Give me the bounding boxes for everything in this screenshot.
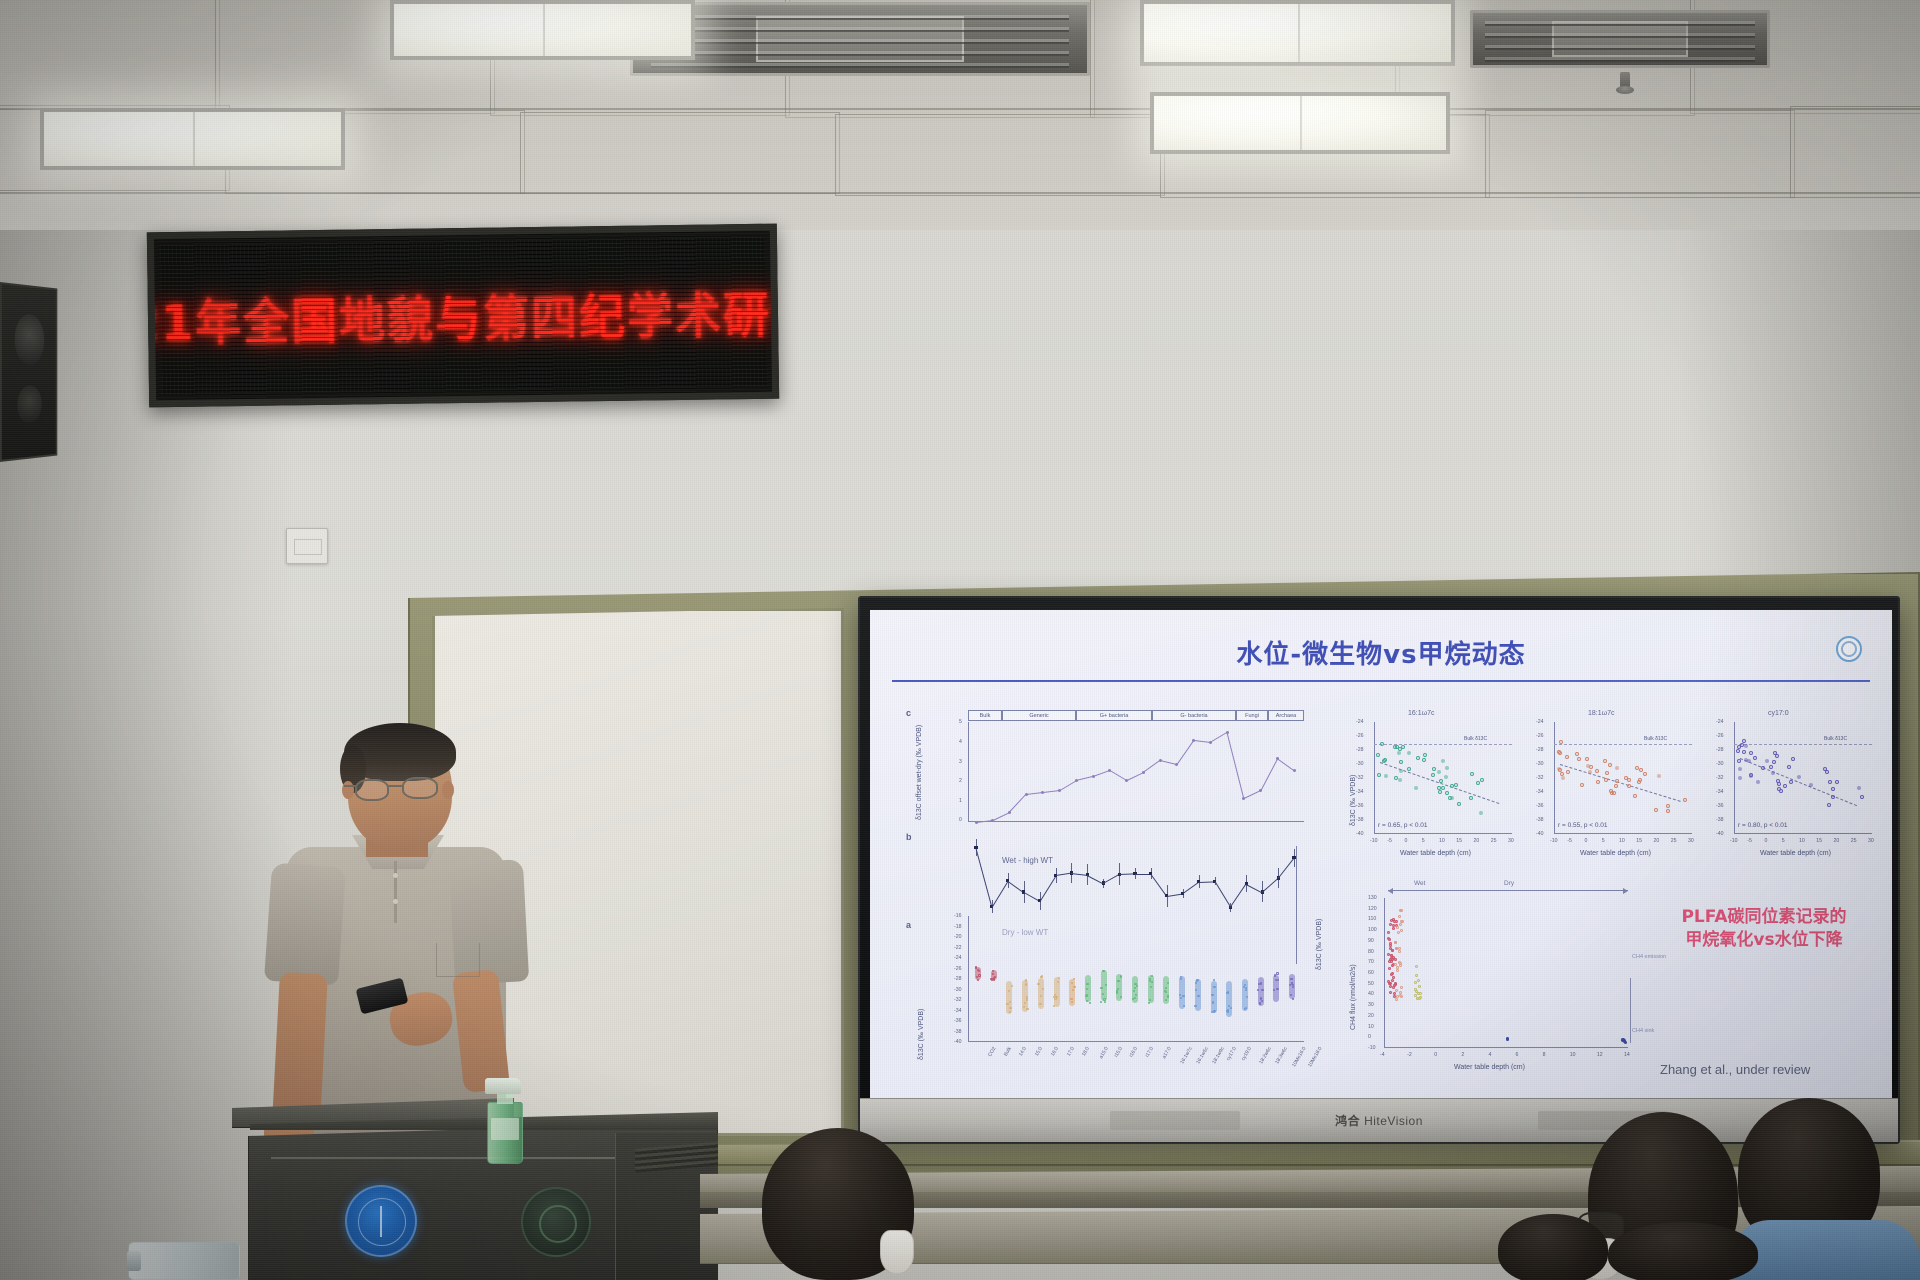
panel-a-ytick: -22: [954, 945, 962, 951]
scatter-ytick: -24: [1536, 719, 1544, 725]
scatter-xtick: 20: [1654, 838, 1660, 844]
scatter-xtick: 10: [1619, 838, 1625, 844]
wall-outlet-plate: [286, 528, 328, 564]
presenter-shirt-button: [393, 899, 398, 904]
panel-a-data-point: [1037, 983, 1039, 985]
panel-a-data-point: [1071, 982, 1073, 984]
panel-a-xtick: 18:0: [1081, 1046, 1091, 1057]
panel-a-data-point: [1261, 1000, 1263, 1002]
scatter-data-point: [1558, 751, 1562, 755]
flux-regime-label-dry: Dry: [1504, 880, 1514, 887]
panel-a-xtick: a15:0: [1098, 1046, 1109, 1060]
flux-ytick: 10: [1368, 1024, 1374, 1030]
scatter-data-point: [1454, 783, 1458, 787]
scatter-data-point: [1657, 774, 1661, 778]
scatter-xtick: -10: [1550, 838, 1558, 844]
panel-letter-a: a: [906, 920, 911, 930]
panel-a-xtick: 10Me18:0: [1307, 1046, 1323, 1068]
scatter-ytick: -30: [1536, 761, 1544, 767]
scatter-data-point: [1450, 784, 1454, 788]
scatter-xtick: 15: [1456, 838, 1462, 844]
panel-b-line-segment: [1039, 876, 1056, 902]
audience-member-head: [1498, 1214, 1608, 1280]
panel-a-data-point: [1026, 1008, 1028, 1010]
scatter-data-point: [1744, 744, 1748, 748]
scatter-data-point: [1595, 769, 1599, 773]
scatter-data-point: [1615, 779, 1619, 783]
scatter-data-point: [1441, 759, 1445, 763]
chart-scatter-1: 16:1ω7c δ13C (‰ VPDB) Bulk δ13C r = 0.65…: [1344, 710, 1520, 866]
panel-a-ytick: -36: [954, 1018, 962, 1024]
flux-series-label-sink: CH4 sink: [1632, 1028, 1654, 1034]
scatter-ytick: -36: [1356, 803, 1364, 809]
panel-b-line-segment: [1230, 884, 1247, 908]
scatter-data-point: [1635, 766, 1639, 770]
chart-panel-c: c δ13C offset wet-dry (‰ VPDB) Bulk Gene…: [906, 708, 1316, 830]
scatter-data-point: [1772, 760, 1776, 764]
flux-ytick: 50: [1368, 981, 1374, 987]
flux-xtick: 10: [1570, 1052, 1576, 1058]
panel-a-xtick: i17:0: [1144, 1046, 1155, 1058]
panel-a-data-point: [977, 979, 979, 981]
panel-a-data-point: [1025, 983, 1027, 985]
scatter-data-point: [1448, 796, 1452, 800]
scatter-data-point: [1441, 786, 1445, 790]
panel-c-axes: [968, 722, 1304, 822]
flux-ytick: 90: [1368, 938, 1374, 944]
spray-bottle-label: [491, 1118, 519, 1140]
panel-a-data-point: [993, 978, 995, 980]
scatter-xtick: 0: [1585, 838, 1588, 844]
chart-flux-plot: Wet Dry CH4 flux (nmol/m2/s) 13012011010…: [1344, 882, 1644, 1082]
panel-a-xtick: a17:0: [1161, 1046, 1172, 1060]
presenter-glasses-bridge: [388, 785, 404, 787]
scatter-ytick: -34: [1356, 789, 1364, 795]
panel-a-xtick: i16:0: [1129, 1046, 1140, 1058]
panel-a-data-point: [1292, 986, 1294, 988]
scatter-data-point: [1577, 757, 1581, 761]
water-bottle[interactable]: [128, 1242, 240, 1280]
panel-c-ytick: 2: [959, 778, 962, 784]
scatter-data-point: [1639, 768, 1643, 772]
panel-a-xtick: 15:0: [1034, 1046, 1044, 1057]
panel-a-data-point: [1165, 987, 1167, 989]
flux-xtick: 2: [1461, 1052, 1464, 1058]
panel-a-data-point: [1276, 972, 1278, 974]
flux-data-point: [1400, 929, 1403, 932]
scatter-ytick: -24: [1716, 719, 1724, 725]
scatter-data-point: [1445, 766, 1449, 770]
scatter-xtick: 20: [1474, 838, 1480, 844]
panel-a-data-point: [1182, 995, 1184, 997]
presenter-shirt-pocket: [436, 943, 480, 977]
scatter-data-point: [1401, 745, 1405, 749]
panel-a-data-point: [1261, 989, 1263, 991]
flux-ytick: -10: [1368, 1045, 1376, 1051]
scatter-data-point: [1740, 743, 1744, 747]
scatter-data-point: [1747, 759, 1751, 763]
panel-a-ytick: -28: [954, 976, 962, 982]
ceiling-ac-vent-right: [1470, 10, 1770, 68]
panel-a-data-point: [1009, 1007, 1011, 1009]
scatter-xtick: -5: [1747, 838, 1752, 844]
scatter-data-point: [1407, 767, 1411, 771]
panel-a-xtick: 14:0: [1018, 1046, 1028, 1057]
panel-a-data-point: [1134, 997, 1136, 999]
panel-b-right-ylabel: δ13C (‰ VPDB): [1316, 860, 1323, 970]
scatter-ytick: -32: [1356, 775, 1364, 781]
scatter-xtick: 25: [1851, 838, 1857, 844]
scatter-ytick: -40: [1356, 831, 1364, 837]
scatter-ytick: -30: [1356, 761, 1364, 767]
panel-a-xtick: 16:1w5c: [1195, 1046, 1210, 1065]
fire-sprinkler: [1620, 72, 1630, 88]
panel-a-data-point: [1196, 980, 1198, 982]
flux-data-point: [1399, 909, 1402, 912]
panel-letter-b: b: [906, 832, 912, 842]
scatter-data-point: [1586, 764, 1590, 768]
presentation-slide: 水位-微生物vs甲烷动态 c δ13C offset wet-dry (‰ VP…: [870, 610, 1892, 1098]
scatter-data-point: [1399, 760, 1403, 764]
panel-c-ytick: 3: [959, 759, 962, 765]
scatter-data-point: [1666, 804, 1670, 808]
scatter-ytick: -26: [1356, 733, 1364, 739]
flux-data-point: [1394, 982, 1397, 985]
flux-ytick: 130: [1368, 895, 1377, 901]
scatter-data-point: [1469, 796, 1473, 800]
podium-secondary-emblem-logo: [521, 1187, 591, 1257]
scatter-data-point: [1398, 778, 1402, 782]
flux-data-point: [1417, 979, 1420, 982]
scatter-1-title: 16:1ω7c: [1408, 710, 1434, 717]
scatter-xtick: 10: [1439, 838, 1445, 844]
panel-a-ytick: -20: [954, 934, 962, 940]
flux-data-point: [1415, 974, 1418, 977]
panel-c-group-header: Fungi: [1236, 710, 1268, 721]
panel-a-xtick: 16:1w7c: [1180, 1046, 1195, 1065]
scatter-data-point: [1407, 751, 1411, 755]
panel-b-line-segment: [1150, 874, 1167, 897]
scatter-data-point: [1439, 779, 1443, 783]
audience-member-face-mask: [880, 1230, 914, 1274]
panel-c-ytick: 1: [959, 798, 962, 804]
scatter-ytick: -24: [1356, 719, 1364, 725]
scatter-data-point: [1414, 786, 1418, 790]
audience-member-head: [1608, 1222, 1758, 1280]
panel-a-data-point: [1054, 997, 1056, 999]
panel-a-data-point: [1086, 1000, 1088, 1002]
panel-a-data-point: [1073, 986, 1075, 988]
scatter-1-xlabel: Water table depth (cm): [1400, 850, 1471, 857]
ceiling: [0, 0, 1920, 230]
flux-data-point: [1621, 1038, 1624, 1041]
scatter-data-point: [1614, 784, 1618, 788]
flux-ylabel: CH4 flux (nmol/m2/s): [1350, 900, 1357, 1030]
panel-a-data-point: [1212, 1001, 1214, 1003]
scatter-ytick: -40: [1716, 831, 1724, 837]
podium-university-seal-logo: [345, 1185, 417, 1257]
scatter-data-point: [1585, 757, 1589, 761]
flux-data-point: [1389, 985, 1392, 988]
panel-a-data-point: [1149, 999, 1151, 1001]
scatter-data-point: [1738, 776, 1742, 780]
flux-xtick: -4: [1380, 1052, 1385, 1058]
scatter-data-point: [1737, 759, 1741, 763]
chart-scatter-3: cy17:0 Bulk δ13C r = 0.80, p < 0.01 Wate…: [1704, 710, 1880, 866]
scatter-xtick: -5: [1567, 838, 1572, 844]
scatter-xtick: -10: [1370, 838, 1378, 844]
scatter-data-point: [1638, 778, 1642, 782]
presenter-shirt-placket: [394, 861, 397, 923]
flux-data-point: [1389, 947, 1392, 950]
scatter-data-point: [1809, 783, 1813, 787]
scatter-2-points: [1554, 722, 1692, 834]
slide-citation: Zhang et al., under review: [1660, 1062, 1810, 1077]
flux-data-point: [1397, 931, 1400, 934]
flux-data-point: [1395, 920, 1398, 923]
interactive-display[interactable]: 水位-微生物vs甲烷动态 c δ13C offset wet-dry (‰ VP…: [858, 596, 1900, 1144]
scatter-data-point: [1394, 776, 1398, 780]
ceiling-light-panel-3: [1140, 0, 1455, 66]
flux-xtick: -2: [1407, 1052, 1412, 1058]
panel-b-line-segment: [1262, 878, 1279, 893]
scatter-data-point: [1397, 751, 1401, 755]
panel-a-data-point: [977, 969, 979, 971]
presenter-glasses-lens-left: [355, 779, 389, 801]
panel-a-data-point: [1117, 980, 1119, 982]
scatter-xtick: 5: [1782, 838, 1785, 844]
scatter-xtick: 25: [1671, 838, 1677, 844]
scatter-xtick: 25: [1491, 838, 1497, 844]
presenter-forearm-left: [272, 972, 328, 1124]
scatter-data-point: [1444, 775, 1448, 779]
scatter-data-point: [1828, 780, 1832, 784]
scatter-ytick: -30: [1716, 761, 1724, 767]
panel-c-group-header: Generic: [1002, 710, 1076, 721]
panel-a-data-point: [978, 974, 980, 976]
flux-ytick: 100: [1368, 927, 1377, 933]
panel-c-ytick: 5: [959, 719, 962, 725]
scatter-data-point: [1470, 772, 1474, 776]
scatter-3-title: cy17:0: [1768, 710, 1789, 717]
panel-b-line-segment: [991, 881, 1008, 907]
panel-c-group-header: G+ bacteria: [1076, 710, 1152, 721]
flux-ytick: 60: [1368, 970, 1374, 976]
scatter-data-point: [1423, 753, 1427, 757]
scatter-data-point: [1588, 770, 1592, 774]
scatter-data-point: [1431, 773, 1435, 777]
flux-ytick: 120: [1368, 906, 1377, 912]
panel-a-data-point: [1213, 986, 1215, 988]
panel-a-xtick: 18:1w9c: [1211, 1046, 1226, 1065]
panel-a-data-point: [1104, 1001, 1106, 1003]
panel-a-data-point: [1072, 989, 1074, 991]
scatter-data-point: [1827, 803, 1831, 807]
scatter-ytick: -32: [1536, 775, 1544, 781]
panel-a-xtick: cy17:0: [1225, 1046, 1238, 1062]
display-brand-cn: 鸿合: [1335, 1112, 1360, 1129]
panel-a-ytick: -16: [954, 913, 962, 919]
panel-a-ytick: -40: [954, 1039, 962, 1045]
panel-a-data-point: [1213, 1010, 1215, 1012]
panel-a-data-point: [1211, 994, 1213, 996]
scatter-ytick: -26: [1536, 733, 1544, 739]
panel-c-ytick: 4: [959, 739, 962, 745]
presenter-ear-left: [342, 781, 354, 799]
panel-c-group-header: Bulk: [968, 710, 1002, 721]
panel-a-xtick: 10Me16:0: [1291, 1046, 1307, 1068]
panel-c-group-header: Archaea: [1268, 710, 1304, 721]
scatter-data-point: [1633, 794, 1637, 798]
panel-b-line-segment: [976, 848, 993, 907]
scatter-data-point: [1416, 756, 1420, 760]
scatter-data-point: [1797, 775, 1801, 779]
scatter-data-point: [1566, 770, 1570, 774]
scatter-xtick: 30: [1868, 838, 1874, 844]
panel-a-data-point: [1226, 992, 1228, 994]
scatter-data-point: [1382, 759, 1386, 763]
slide-corner-logo-icon: [1836, 636, 1862, 662]
panel-a-ytick: -34: [954, 1008, 962, 1014]
scatter-data-point: [1736, 749, 1740, 753]
scatter-data-point: [1765, 759, 1769, 763]
display-brand-en: HiteVision: [1364, 1114, 1423, 1128]
scatter-xtick: 15: [1816, 838, 1822, 844]
panel-letter-c: c: [906, 708, 911, 718]
panel-a-xtick: Bulk: [1003, 1046, 1013, 1057]
flux-xtick: 4: [1488, 1052, 1491, 1058]
panel-a-ytick: -32: [954, 997, 962, 1003]
flux-data-point: [1415, 990, 1418, 993]
flux-xtick: 0: [1434, 1052, 1437, 1058]
presenter-glasses-lens-right: [402, 777, 438, 799]
scatter-data-point: [1380, 742, 1384, 746]
panel-c-data-point: [1293, 769, 1296, 772]
spray-bottle-trigger[interactable]: [485, 1078, 521, 1094]
scatter-ytick: -38: [1356, 817, 1364, 823]
flux-series-label-emission: CH4 emission: [1632, 954, 1666, 960]
scatter-data-point: [1565, 755, 1569, 759]
scatter-3-points: [1734, 722, 1872, 834]
slide-title: 水位-微生物vs甲烷动态: [870, 634, 1892, 671]
scatter-ytick: -36: [1536, 803, 1544, 809]
flux-data-point: [1419, 996, 1422, 999]
panel-a-data-point: [1259, 1002, 1261, 1004]
scatter-ytick: -36: [1716, 803, 1724, 809]
scatter-data-point: [1761, 766, 1765, 770]
panel-a-xtick: i15:0: [1113, 1046, 1124, 1058]
panel-a-data-point: [1102, 993, 1104, 995]
scatter-data-point: [1457, 802, 1461, 806]
panel-a-ytick: -18: [954, 924, 962, 930]
panel-a-xtick: 18:2w6c: [1258, 1046, 1273, 1065]
panel-a-xtick: CO2: [987, 1046, 997, 1058]
scatter-xtick: 0: [1405, 838, 1408, 844]
flux-xtick: 8: [1543, 1052, 1546, 1058]
scatter-data-point: [1666, 809, 1670, 813]
wall-mounted-speaker: [0, 282, 57, 462]
presenter: [240, 735, 580, 1155]
scatter-data-point: [1384, 774, 1388, 778]
flux-ytick: 80: [1368, 949, 1374, 955]
scatter-data-point: [1627, 784, 1631, 788]
scatter-data-point: [1479, 811, 1483, 815]
scatter-data-point: [1559, 740, 1563, 744]
flux-ytick: 30: [1368, 1002, 1374, 1008]
scatter-ytick: -32: [1716, 775, 1724, 781]
flux-xtick: 12: [1597, 1052, 1603, 1058]
scatter-data-point: [1399, 769, 1403, 773]
chart-scatter-2: 18:1ω7c Bulk δ13C r = 0.55, p < 0.01 Wat…: [1524, 710, 1700, 866]
scatter-data-point: [1753, 756, 1757, 760]
scatter-ytick: -28: [1356, 747, 1364, 753]
flux-ytick: 40: [1368, 991, 1374, 997]
panel-a-data-point: [1151, 975, 1153, 977]
scatter-xtick: 0: [1765, 838, 1768, 844]
scatter-data-point: [1791, 757, 1795, 761]
flux-regime-label-wet: Wet: [1414, 880, 1425, 887]
scatter-2-title: 18:1ω7c: [1588, 710, 1614, 717]
scatter-data-point: [1560, 772, 1564, 776]
scatter-ytick: -38: [1716, 817, 1724, 823]
panel-a-data-point: [1086, 983, 1088, 985]
scatter-data-point: [1432, 767, 1436, 771]
panel-a-data-point: [1011, 985, 1013, 987]
scatter-data-point: [1749, 774, 1753, 778]
panel-c-ylabel: δ13C offset wet-dry (‰ VPDB): [916, 700, 923, 820]
scatter-data-point: [1835, 780, 1839, 784]
ceiling-light-panel-1: [40, 108, 345, 170]
scatter-data-point: [1605, 771, 1609, 775]
flux-ytick: 110: [1368, 916, 1376, 922]
scatter-ytick: -34: [1716, 789, 1724, 795]
slide-red-annotation: PLFA碳同位素记录的 甲烷氧化vs水位下降: [1644, 906, 1884, 952]
panel-a-ytick: -24: [954, 955, 962, 961]
ceiling-light-panel-4: [1150, 92, 1450, 154]
audience-member-shoulder: [1730, 1220, 1920, 1280]
panel-a-ylabel: δ13C (‰ VPDB): [918, 950, 925, 1060]
slide-title-underline: [892, 680, 1870, 682]
panel-a-xtick: 16:0: [1050, 1046, 1060, 1057]
panel-a-data-point: [1040, 995, 1042, 997]
scatter-data-point: [1377, 773, 1381, 777]
ceiling-light-panel-2: [390, 0, 695, 60]
panel-a-data-point: [1009, 1001, 1011, 1003]
lecture-room-photo: 2021年全国地貌与第四纪学术研讨会 水位-微生物vs甲烷动态 c δ13C o…: [0, 0, 1920, 1280]
flux-ytick: 0: [1368, 1034, 1371, 1040]
flux-data-point: [1389, 991, 1392, 994]
scatter-data-point: [1776, 779, 1780, 783]
panel-a-data-point: [1290, 978, 1292, 980]
display-bottom-bezel: 鸿合 HiteVision: [860, 1098, 1898, 1142]
panel-a-xtick: 18:3w6c: [1274, 1046, 1289, 1065]
scatter-data-point: [1738, 767, 1742, 771]
scatter-2-xlabel: Water table depth (cm): [1580, 850, 1651, 857]
scatter-xtick: 15: [1636, 838, 1642, 844]
flux-data-point: [1398, 950, 1401, 953]
scatter-xtick: 20: [1834, 838, 1840, 844]
red-annotation-line-2: 甲烷氧化vs水位下降: [1644, 929, 1884, 952]
flux-data-point: [1391, 972, 1394, 975]
display-speaker-left: [1110, 1111, 1240, 1130]
panel-a-data-point: [1230, 1007, 1232, 1009]
presenter-glasses-arm: [344, 785, 357, 787]
scatter-xtick: -5: [1387, 838, 1392, 844]
flux-ytick: 70: [1368, 959, 1374, 965]
scatter-data-point: [1749, 751, 1753, 755]
panel-a-ytick: -38: [954, 1029, 962, 1035]
chart-panel-a: a δ13C (‰ VPDB) Dry - low WT -16-18-20-2…: [906, 910, 1316, 1090]
